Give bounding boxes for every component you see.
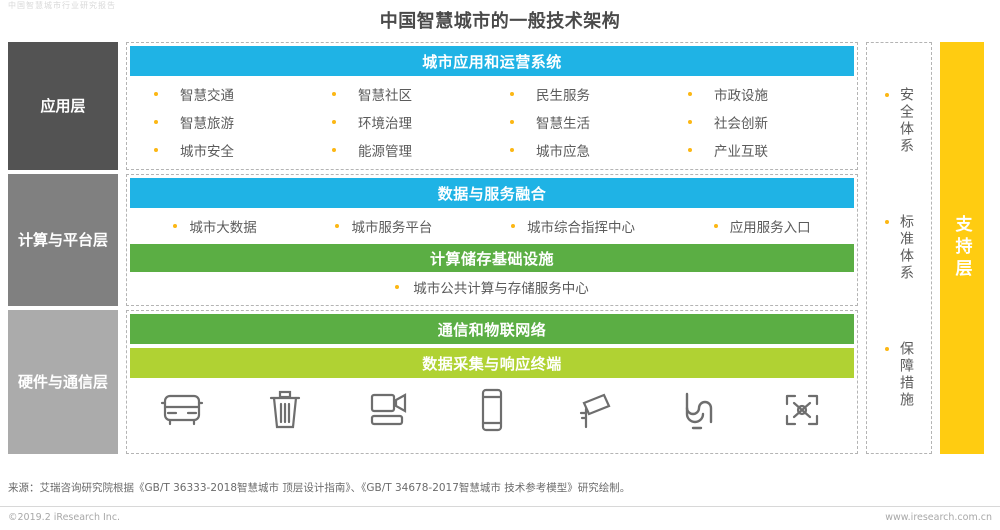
list-item-label: 社会创新 <box>714 112 768 132</box>
footer-divider <box>0 506 1000 507</box>
copyright-text: ©2019.2 iResearch Inc. <box>8 512 120 523</box>
bullet-dot-icon <box>885 347 889 351</box>
bullet-dot-icon <box>688 148 692 152</box>
website-url: www.iresearch.com.cn <box>885 512 992 523</box>
support-item-safeguards[interactable]: 保障措施 <box>885 341 913 409</box>
drone-icon[interactable] <box>780 389 824 431</box>
list-item-label: 智慧生活 <box>536 112 590 132</box>
layer-label-platform: 计算与平台层 <box>8 174 118 306</box>
bullet-dot-icon <box>154 92 158 96</box>
bullet-dot-icon <box>688 92 692 96</box>
support-item-label: 标准体系 <box>899 214 913 282</box>
list-item-label: 环境治理 <box>358 112 412 132</box>
list-item-label: 应用服务入口 <box>730 216 811 236</box>
bullet-dot-icon <box>154 120 158 124</box>
list-item-label: 城市大数据 <box>189 216 257 236</box>
list-item[interactable]: 市政设施 <box>670 80 848 108</box>
bullet-dot-icon <box>510 120 514 124</box>
architecture-diagram: 应用层 计算与平台层 硬件与通信层 城市应用和运营系统 智慧交通 智慧社区 民生… <box>8 42 992 454</box>
data-service-fusion-bar: 数据与服务融合 <box>130 178 854 208</box>
compute-storage-infrastructure-bar: 计算储存基础设施 <box>130 244 854 272</box>
application-layer-box: 城市应用和运营系统 智慧交通 智慧社区 民生服务 市政设施 智慧旅游 环境治理 … <box>126 42 858 170</box>
support-layer-bar: 支持层 <box>940 42 984 454</box>
bullet-dot-icon <box>173 224 177 228</box>
bullet-dot-icon <box>154 148 158 152</box>
list-item[interactable]: 应用服务入口 <box>714 216 811 236</box>
layer-label-application: 应用层 <box>8 42 118 170</box>
layer-label-column: 应用层 计算与平台层 硬件与通信层 <box>8 42 118 454</box>
page-title: 中国智慧城市的一般技术架构 <box>0 7 1000 33</box>
layer-label-hardware: 硬件与通信层 <box>8 310 118 454</box>
list-item[interactable]: 城市安全 <box>136 136 314 164</box>
list-item-label: 城市安全 <box>180 140 234 160</box>
list-item-label: 能源管理 <box>358 140 412 160</box>
hardware-layer-box: 通信和物联网络 数据采集与响应终端 <box>126 310 858 454</box>
application-system-bar: 城市应用和运营系统 <box>130 46 854 76</box>
support-item-security[interactable]: 安全体系 <box>885 87 913 155</box>
application-items-grid: 智慧交通 智慧社区 民生服务 市政设施 智慧旅游 环境治理 智慧生活 社会创新 … <box>130 76 854 166</box>
support-item-label: 安全体系 <box>899 87 913 155</box>
list-item-label: 智慧交通 <box>180 84 234 104</box>
list-item[interactable]: 城市服务平台 <box>335 216 432 236</box>
list-item[interactable]: 城市综合指挥中心 <box>511 216 635 236</box>
bullet-dot-icon <box>510 148 514 152</box>
list-item[interactable]: 智慧旅游 <box>136 108 314 136</box>
bullet-dot-icon <box>714 224 718 228</box>
list-item-label: 民生服务 <box>536 84 590 104</box>
bullet-dot-icon <box>885 93 889 97</box>
bullet-dot-icon <box>511 224 515 228</box>
list-item[interactable]: 产业互联 <box>670 136 848 164</box>
video-camera-icon[interactable] <box>367 390 411 430</box>
bullet-dot-icon <box>335 224 339 228</box>
cctv-camera-icon[interactable] <box>574 389 616 431</box>
list-item[interactable]: 城市应急 <box>492 136 670 164</box>
list-item-label: 智慧社区 <box>358 84 412 104</box>
list-item[interactable]: 智慧生活 <box>492 108 670 136</box>
sensor-probe-icon[interactable] <box>679 388 719 432</box>
list-item-label: 城市综合指挥中心 <box>527 216 635 236</box>
smartphone-icon[interactable] <box>479 388 505 432</box>
support-item-standards[interactable]: 标准体系 <box>885 214 913 282</box>
bullet-dot-icon <box>332 92 336 96</box>
list-item[interactable]: 环境治理 <box>314 108 492 136</box>
support-items-column: 安全体系 标准体系 保障措施 <box>866 42 932 454</box>
layer-content-column: 城市应用和运营系统 智慧交通 智慧社区 民生服务 市政设施 智慧旅游 环境治理 … <box>126 42 858 454</box>
support-layer-label: 支持层 <box>950 215 975 281</box>
list-item-label: 智慧旅游 <box>180 112 234 132</box>
source-note: 来源：艾瑞咨询研究院根据《GB/T 36333-2018智慧城市 顶层设计指南》… <box>8 480 908 495</box>
slide-root: 中国智慧城市行业研究报告 中国智慧城市的一般技术架构 应用层 计算与平台层 硬件… <box>0 0 1000 530</box>
list-item[interactable]: 民生服务 <box>492 80 670 108</box>
list-item-label: 城市服务平台 <box>351 216 432 236</box>
device-icon-strip <box>130 378 854 440</box>
list-item[interactable]: 智慧社区 <box>314 80 492 108</box>
list-item-label: 城市应急 <box>536 140 590 160</box>
bullet-dot-icon <box>332 148 336 152</box>
list-item[interactable]: 智慧交通 <box>136 80 314 108</box>
list-item-label: 产业互联 <box>714 140 768 160</box>
platform-compute-items-row: 城市公共计算与存储服务中心 <box>130 272 854 302</box>
bullet-dot-icon <box>395 285 399 289</box>
list-item-label: 市政设施 <box>714 84 768 104</box>
bullet-dot-icon <box>885 220 889 224</box>
trash-bin-icon[interactable] <box>268 389 302 431</box>
bullet-dot-icon <box>688 120 692 124</box>
data-collection-terminal-bar: 数据采集与响应终端 <box>130 348 854 378</box>
list-item[interactable]: 城市大数据 <box>173 216 257 236</box>
platform-layer-box: 数据与服务融合 城市大数据 城市服务平台 城市综合指挥中心 应用服务入口 计算储… <box>126 174 858 306</box>
list-item-label: 城市公共计算与存储服务中心 <box>413 277 589 297</box>
bullet-dot-icon <box>332 120 336 124</box>
list-item[interactable]: 社会创新 <box>670 108 848 136</box>
list-item[interactable]: 能源管理 <box>314 136 492 164</box>
bullet-dot-icon <box>510 92 514 96</box>
platform-data-items-row: 城市大数据 城市服务平台 城市综合指挥中心 应用服务入口 <box>130 208 854 244</box>
support-item-label: 保障措施 <box>899 341 913 409</box>
bus-icon[interactable] <box>159 390 205 430</box>
list-item[interactable]: 城市公共计算与存储服务中心 <box>395 277 589 297</box>
communication-iot-network-bar: 通信和物联网络 <box>130 314 854 344</box>
